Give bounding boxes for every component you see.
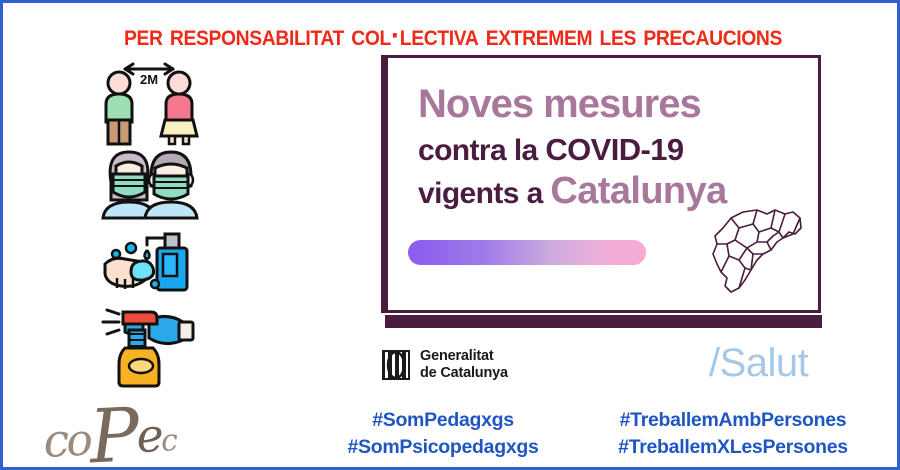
generalitat-logo: Generalitat de Catalunya	[381, 348, 508, 382]
face-mask-icon	[81, 146, 216, 220]
hashtag-sompsicopedagxgs[interactable]: #SomPsicopedagxgs	[347, 436, 538, 458]
hashtag-sompedagxgs[interactable]: #SomPedagxgs	[372, 409, 514, 431]
poster-canvas: Per responsabilitat col·lectiva extremem…	[0, 0, 900, 470]
copec-logo: coPec	[41, 388, 176, 469]
hashtag-row: #SomPedagxgs #TreballemAmbPersones	[303, 409, 883, 432]
generalitat-label: Generalitat de Catalunya	[420, 348, 508, 382]
salut-logo: /Salut	[709, 343, 808, 383]
hashtag-row: #SomPsicopedagxgs #TreballemXLesPersones	[303, 436, 883, 459]
covid-measures-card: Noves mesures contra la COVID-19 vigents…	[381, 55, 821, 313]
generalitat-line2: de Catalunya	[420, 365, 508, 382]
hashtag-treballemambpersones[interactable]: #TreballemAmbPersones	[620, 409, 847, 431]
generalitat-line1: Generalitat	[420, 348, 508, 365]
svg-text:2M: 2M	[139, 72, 157, 87]
card-title-tertiary-plain: vigents a	[418, 177, 550, 210]
card-title-tertiary: vigents a Catalunya	[418, 172, 727, 210]
catalonia-map	[701, 198, 806, 308]
hashtag-treballemxlespersones[interactable]: #TreballemXLesPersones	[618, 436, 848, 458]
card-title-secondary: contra la COVID-19	[418, 134, 684, 166]
card-title-primary: Noves mesures	[418, 84, 701, 124]
hand-washing-icon	[81, 220, 216, 296]
card-bottom-bar	[385, 315, 822, 328]
disinfectant-spray-icon	[81, 296, 216, 388]
card-title-covid19: COVID-19	[545, 132, 683, 167]
card-title-secondary-plain: contra la	[418, 134, 545, 167]
social-distance-icon: 2M	[81, 58, 216, 146]
decorative-gradient-bar	[408, 240, 646, 265]
hashtag-block: #SomPedagxgs #TreballemAmbPersones #SomP…	[303, 409, 883, 463]
page-title: Per responsabilitat col·lectiva extremem…	[39, 19, 867, 53]
generalitat-shield-icon	[381, 349, 411, 381]
